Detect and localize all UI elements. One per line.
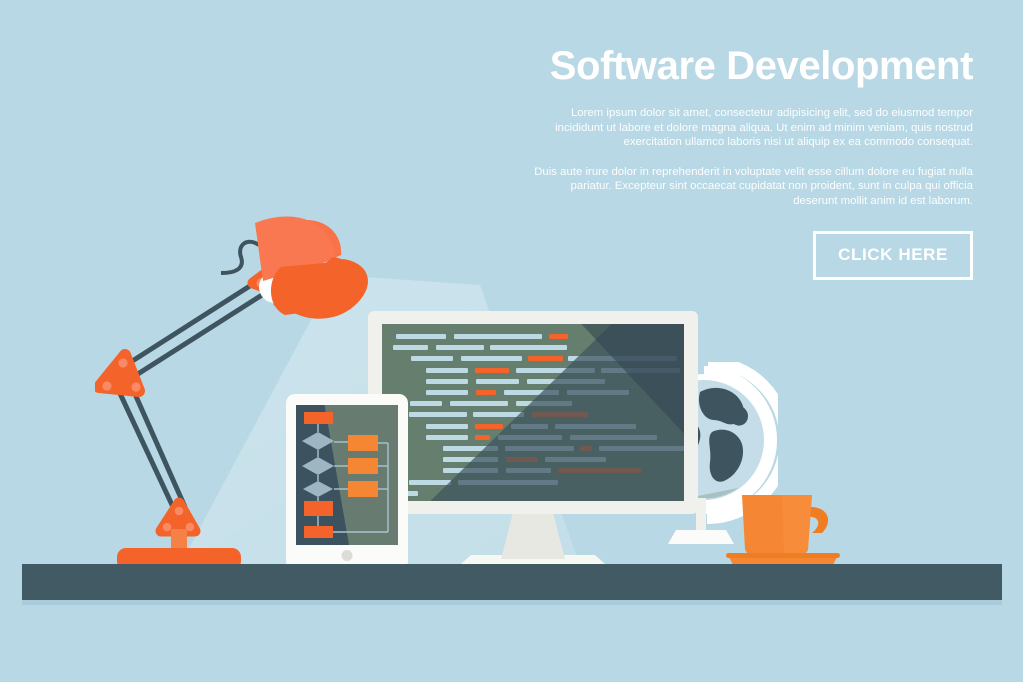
- flowchart-decision-node: [303, 481, 333, 497]
- code-line-segment: [475, 424, 503, 429]
- monitor-screen: [382, 324, 684, 501]
- code-line-segment: [426, 390, 468, 395]
- flowchart-process-node: [348, 481, 378, 497]
- flowchart-diagram: [296, 405, 398, 545]
- code-line-segment: [454, 334, 542, 339]
- code-line-segment: [475, 435, 490, 440]
- code-line-segment: [475, 368, 509, 373]
- code-line-segment: [426, 424, 468, 429]
- coffee-cup: [726, 483, 856, 568]
- code-line-segment: [409, 412, 467, 417]
- cta-wrapper: CLICK HERE: [528, 231, 973, 280]
- desktop-monitor: [368, 311, 698, 571]
- text-content-block: Software Development Lorem ipsum dolor s…: [528, 44, 973, 280]
- code-line-segment: [490, 345, 567, 350]
- tablet-bezel: [286, 394, 408, 570]
- body-paragraph-2: Duis aute irure dolor in reprehenderit i…: [528, 165, 973, 209]
- page-title: Software Development: [528, 44, 973, 88]
- code-line-segment: [426, 379, 468, 384]
- code-line-segment: [450, 401, 508, 406]
- tablet-device: [286, 394, 408, 570]
- code-line-segment: [476, 379, 519, 384]
- flowchart-process-node: [304, 412, 333, 424]
- illustration-stage: Software Development Lorem ipsum dolor s…: [0, 0, 1023, 682]
- code-line-segment: [461, 356, 522, 361]
- code-line-segment: [436, 345, 484, 350]
- tablet-screen: [296, 405, 398, 545]
- code-line-segment: [410, 401, 442, 406]
- desk-surface: [22, 564, 1002, 600]
- body-paragraph-1: Lorem ipsum dolor sit amet, consectetur …: [528, 106, 973, 150]
- flowchart-process-node: [304, 501, 333, 516]
- code-line-segment: [411, 356, 453, 361]
- code-line-segment: [476, 390, 496, 395]
- flowchart-process-node: [348, 435, 378, 451]
- flowchart-decision-node: [302, 432, 334, 450]
- click-here-button[interactable]: CLICK HERE: [813, 231, 973, 280]
- flowchart-process-node: [348, 458, 378, 474]
- code-line-segment: [426, 368, 468, 373]
- flowchart-decision-node: [302, 457, 334, 475]
- code-line-segment: [528, 356, 563, 361]
- monitor-bezel: [368, 311, 698, 514]
- tablet-home-button[interactable]: [342, 550, 353, 561]
- code-line-segment: [426, 435, 468, 440]
- code-line-segment: [473, 412, 524, 417]
- code-line-segment: [549, 334, 568, 339]
- code-line-segment: [409, 480, 451, 485]
- flowchart-process-node: [304, 526, 333, 538]
- monitor-stand: [501, 513, 565, 559]
- desk-shadow: [22, 600, 1002, 605]
